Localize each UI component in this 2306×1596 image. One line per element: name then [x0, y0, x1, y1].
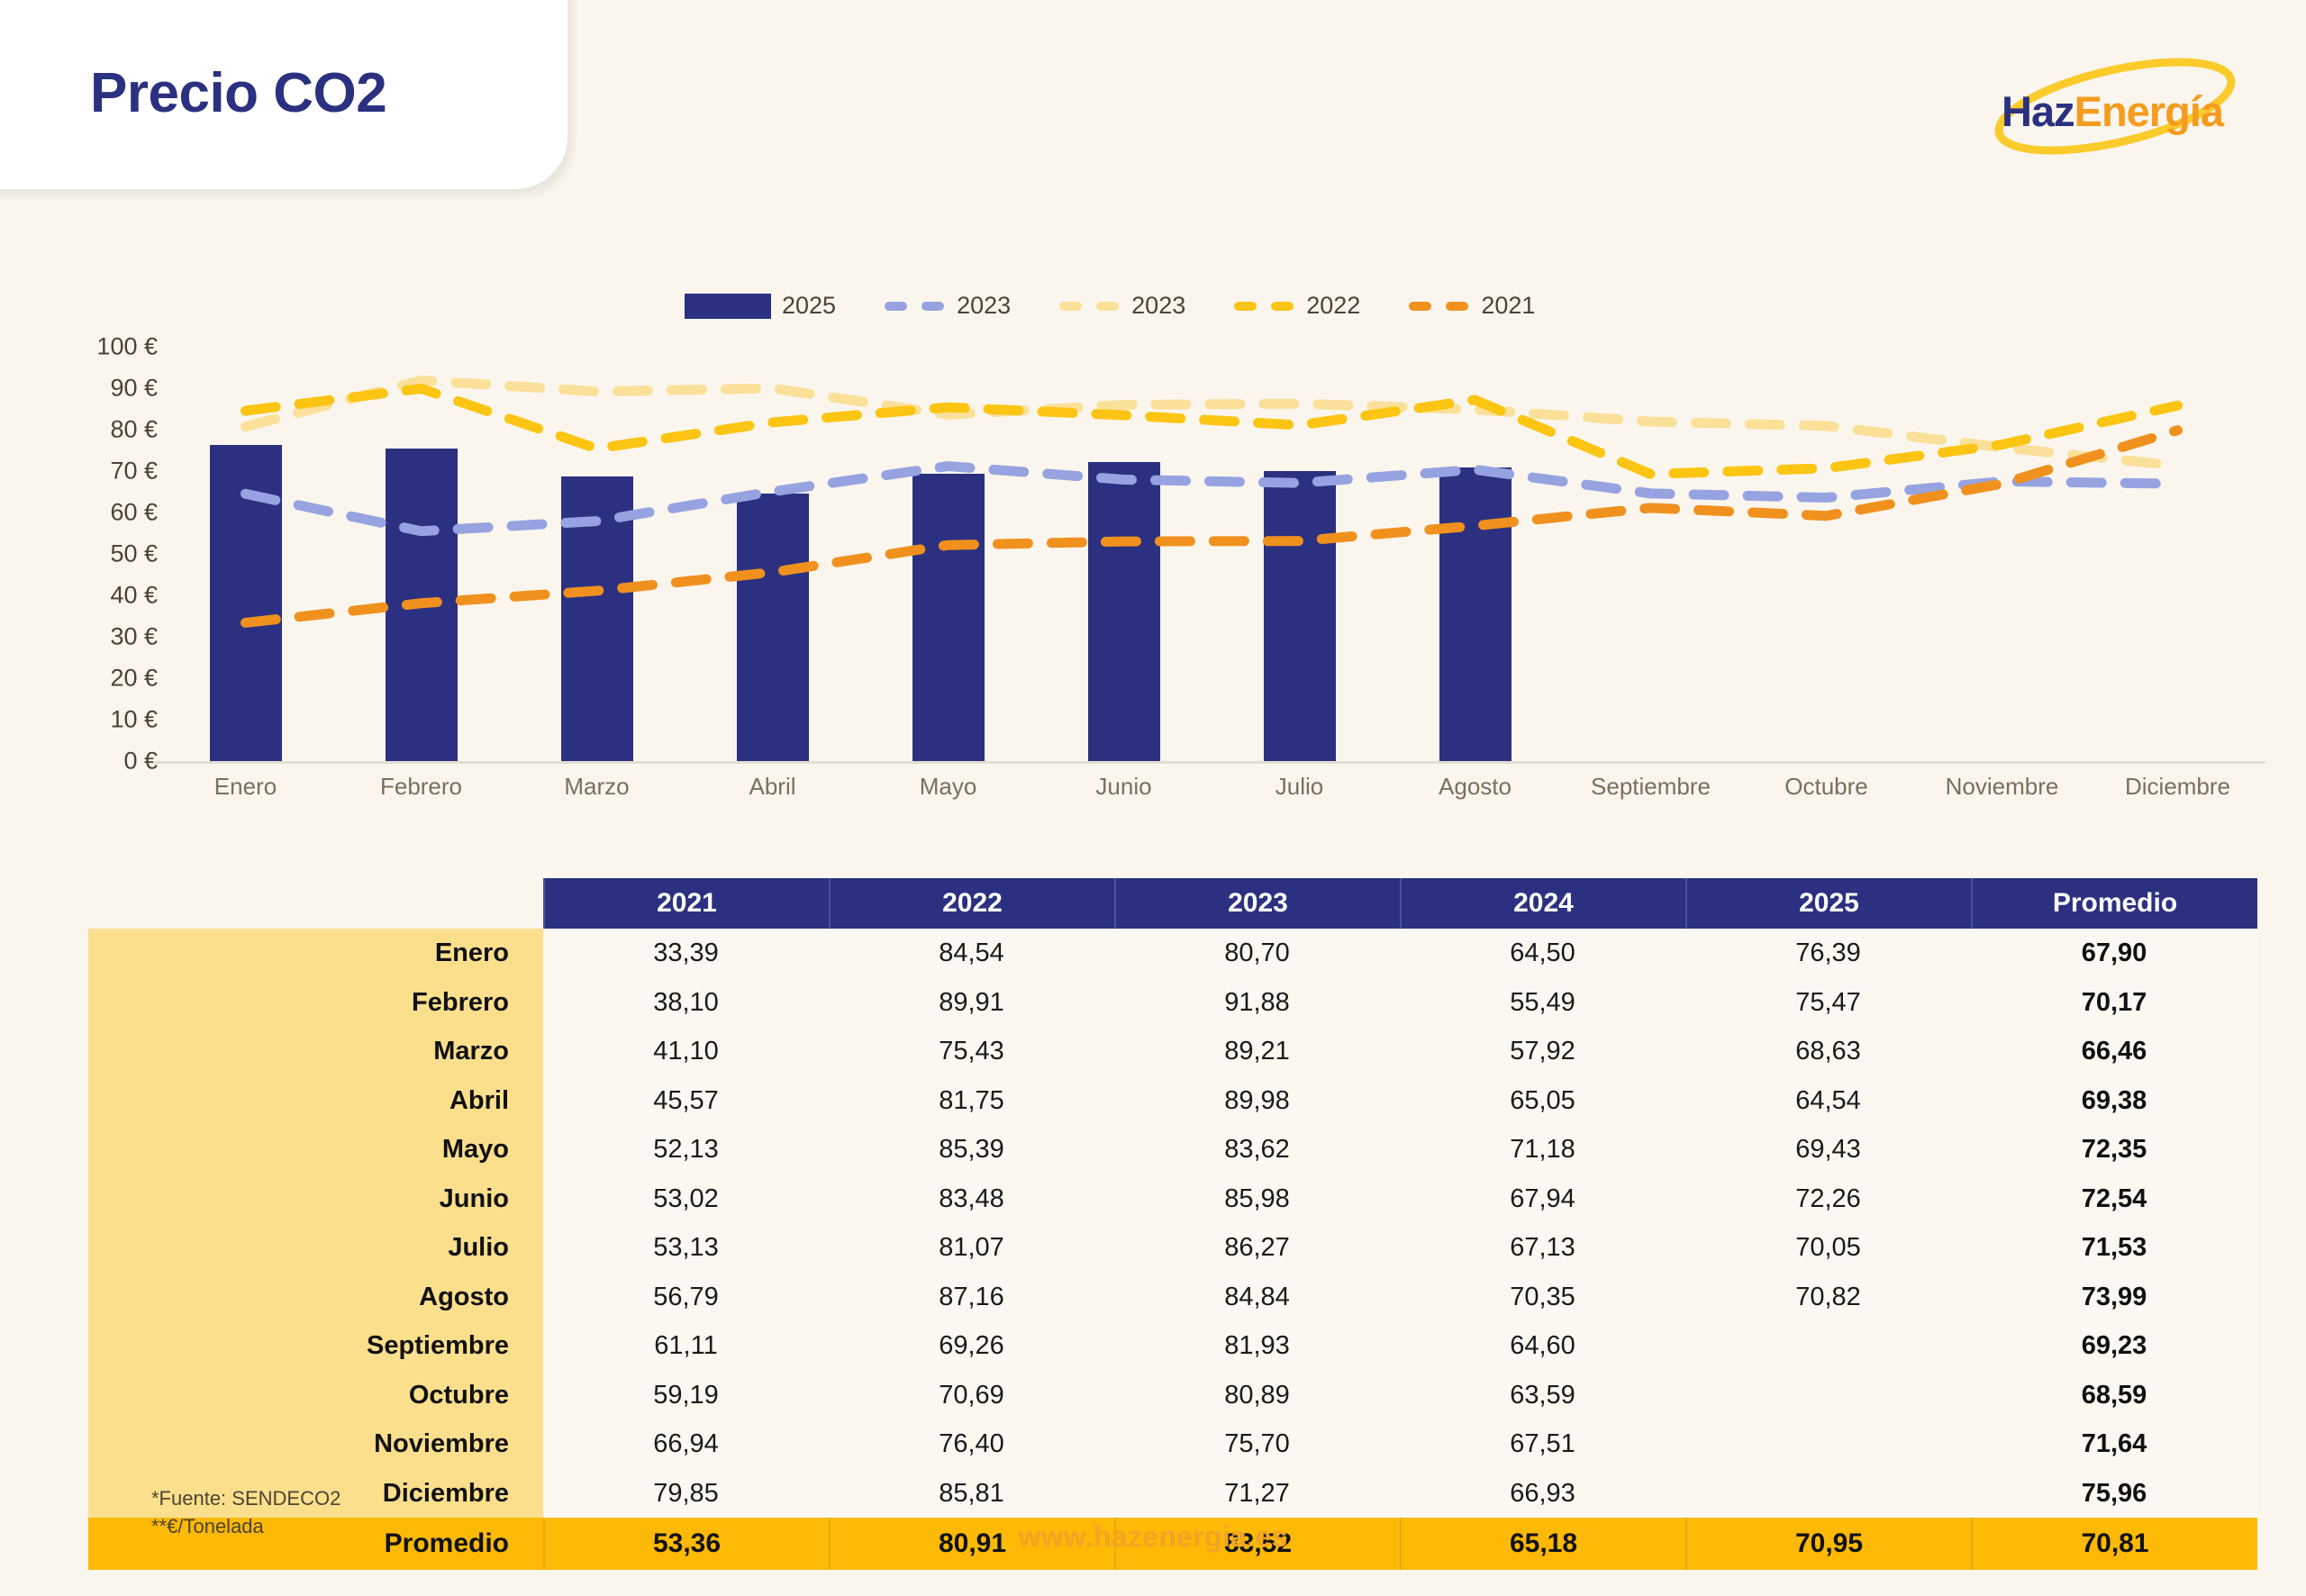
table-corner-cell — [88, 878, 543, 929]
table-header-row: 20212022202320242025Promedio — [88, 878, 2259, 929]
table-cell-value: 53,02 — [543, 1174, 829, 1224]
table-cell-value: 80,89 — [1114, 1371, 1400, 1420]
x-tick-label: Mayo — [920, 773, 977, 801]
data-table: 20212022202320242025Promedio Enero33,398… — [88, 878, 2259, 1570]
chart-plot: 100 €90 €80 €70 €60 €50 €40 €30 €20 €10 … — [0, 270, 2306, 829]
table-header: 20212022202320242025Promedio — [88, 878, 2259, 929]
row-month-label: Octubre — [88, 1371, 543, 1420]
table-cell-value: 67,13 — [1400, 1223, 1685, 1273]
chart: 20252023202320222021 100 €90 €80 €70 €60… — [0, 270, 2306, 829]
website-link[interactable]: www.hazenergia.es — [0, 1520, 2306, 1554]
x-tick-label: Noviembre — [1946, 773, 2059, 801]
row-month-label: Noviembre — [88, 1419, 543, 1469]
x-tick-label: Diciembre — [2125, 773, 2230, 801]
logo-energia: Energía — [2074, 87, 2223, 135]
table-cell-value: 57,92 — [1400, 1027, 1685, 1076]
row-month-label: Agosto — [88, 1273, 543, 1322]
x-tick-label: Febrero — [380, 773, 462, 801]
table-row: Noviembre66,9476,4075,7067,5171,64 — [88, 1419, 2259, 1469]
table-cell-value: 68,63 — [1685, 1027, 1971, 1076]
table-cell-value: 75,43 — [829, 1027, 1114, 1076]
table-cell-average: 68,59 — [1971, 1371, 2257, 1420]
table-cell-average: 71,64 — [1971, 1419, 2257, 1469]
table-cell-value: 76,39 — [1685, 929, 1971, 978]
x-tick-label: Agosto — [1439, 773, 1512, 801]
title-card: Precio CO2 — [0, 0, 567, 189]
x-tick-label: Marzo — [564, 773, 629, 801]
table-cell-value: 85,81 — [829, 1469, 1114, 1519]
table-cell-value: 83,62 — [1114, 1125, 1400, 1174]
table-cell-value: 89,98 — [1114, 1076, 1400, 1126]
row-month-label: Junio — [88, 1174, 543, 1224]
table-body: Enero33,3984,5480,7064,5076,3967,90Febre… — [88, 929, 2259, 1518]
table-cell-value: 89,21 — [1114, 1027, 1400, 1076]
x-tick-label: Abril — [749, 773, 795, 801]
line-series-group — [0, 270, 2306, 829]
table-cell-value: 76,40 — [829, 1419, 1114, 1469]
table-cell-value: 89,91 — [829, 978, 1114, 1028]
x-tick-label: Julio — [1276, 773, 1323, 801]
table-cell-value: 70,82 — [1685, 1273, 1971, 1322]
table-cell-value: 71,27 — [1114, 1469, 1400, 1519]
table-cell-value: 86,27 — [1114, 1223, 1400, 1273]
table-cell-value: 70,35 — [1400, 1273, 1685, 1322]
column-header-promedio: Promedio — [1971, 878, 2257, 929]
table-cell-value: 64,60 — [1400, 1321, 1685, 1371]
table-cell-value: 71,18 — [1400, 1125, 1685, 1174]
x-tick-label: Septiembre — [1591, 773, 1711, 801]
table-cell-value: 67,51 — [1400, 1419, 1685, 1469]
table-row: Junio53,0283,4885,9867,9472,2672,54 — [88, 1174, 2259, 1224]
table-cell-value: 79,85 — [543, 1469, 829, 1519]
x-axis-labels: EneroFebreroMarzoAbrilMayoJunioJulioAgos… — [158, 773, 2265, 809]
x-tick-label: Octubre — [1784, 773, 1868, 801]
table-cell-value: 81,93 — [1114, 1321, 1400, 1371]
table-cell-value: 85,98 — [1114, 1174, 1400, 1224]
row-month-label: Febrero — [88, 978, 543, 1028]
table-row: Enero33,3984,5480,7064,5076,3967,90 — [88, 929, 2259, 978]
table-cell-value: 61,11 — [543, 1321, 829, 1371]
table-cell-value: 41,10 — [543, 1027, 829, 1076]
table-cell-average: 72,54 — [1971, 1174, 2257, 1224]
table-row: Octubre59,1970,6980,8963,5968,59 — [88, 1371, 2259, 1420]
table-row: Abril45,5781,7589,9865,0564,5469,38 — [88, 1076, 2259, 1126]
row-month-label: Julio — [88, 1223, 543, 1273]
row-month-label: Enero — [88, 929, 543, 978]
table-cell-value: 45,57 — [543, 1076, 829, 1126]
logo-text: HazEnergía — [2002, 86, 2223, 136]
brand-logo: HazEnergía — [1980, 52, 2250, 160]
table-cell-value: 83,48 — [829, 1174, 1114, 1224]
page-title: Precio CO2 — [90, 61, 386, 125]
table-row: Diciembre79,8585,8171,2766,9375,96 — [88, 1469, 2259, 1519]
table-row: Septiembre61,1169,2681,9364,6069,23 — [88, 1321, 2259, 1371]
table-cell-average: 70,17 — [1971, 978, 2257, 1028]
column-header-2023: 2023 — [1114, 878, 1400, 929]
column-header-2021: 2021 — [543, 878, 829, 929]
table-cell-value: 56,79 — [543, 1273, 829, 1322]
x-tick-label: Enero — [214, 773, 277, 801]
row-month-label: Abril — [88, 1076, 543, 1126]
table-cell-value: 85,39 — [829, 1125, 1114, 1174]
table-cell-average: 72,35 — [1971, 1125, 2257, 1174]
column-header-2024: 2024 — [1400, 878, 1685, 929]
table-cell-value: 65,05 — [1400, 1076, 1685, 1126]
table-cell-value: 33,39 — [543, 929, 829, 978]
table-cell-value: 55,49 — [1400, 978, 1685, 1028]
table-cell-value: 69,26 — [829, 1321, 1114, 1371]
table-cell-value: 84,54 — [829, 929, 1114, 978]
table-cell-value — [1685, 1321, 1971, 1371]
slide-root: HazEnergía Precio CO2 HazEnergía 2025202… — [0, 0, 2306, 1596]
table-cell-average: 71,53 — [1971, 1223, 2257, 1273]
table-cell-value: 52,13 — [543, 1125, 829, 1174]
note-source: *Fuente: SENDECO2 — [151, 1484, 340, 1512]
table-cell-value: 75,70 — [1114, 1419, 1400, 1469]
table-cell-value: 63,59 — [1400, 1371, 1685, 1420]
x-tick-label: Junio — [1095, 773, 1151, 801]
table-cell-value: 64,54 — [1685, 1076, 1971, 1126]
table-cell-value: 81,07 — [829, 1223, 1114, 1273]
table-cell-value: 38,10 — [543, 978, 829, 1028]
table-cell-value: 66,93 — [1400, 1469, 1685, 1519]
row-month-label: Septiembre — [88, 1321, 543, 1371]
column-header-2022: 2022 — [829, 878, 1114, 929]
table-cell-value: 84,84 — [1114, 1273, 1400, 1322]
table-cell-value: 67,94 — [1400, 1174, 1685, 1224]
table-cell-value: 66,94 — [543, 1419, 829, 1469]
table-cell-average: 75,96 — [1971, 1469, 2257, 1519]
table-cell-average: 67,90 — [1971, 929, 2257, 978]
table-cell-value: 53,13 — [543, 1223, 829, 1273]
table-cell-value — [1685, 1419, 1971, 1469]
logo-haz: Haz — [2002, 87, 2074, 135]
table-row: Febrero38,1089,9191,8855,4975,4770,17 — [88, 978, 2259, 1028]
table-row: Mayo52,1385,3983,6271,1869,4372,35 — [88, 1125, 2259, 1174]
table-cell-average: 69,23 — [1971, 1321, 2257, 1371]
table-cell-value: 81,75 — [829, 1076, 1114, 1126]
table-cell-value: 70,05 — [1685, 1223, 1971, 1273]
table-cell-value: 75,47 — [1685, 978, 1971, 1028]
table-cell-average: 66,46 — [1971, 1027, 2257, 1076]
table-cell-value: 91,88 — [1114, 978, 1400, 1028]
table-row: Julio53,1381,0786,2767,1370,0571,53 — [88, 1223, 2259, 1273]
table-cell-value: 87,16 — [829, 1273, 1114, 1322]
table-cell-average: 73,99 — [1971, 1273, 2257, 1322]
table-cell-average: 69,38 — [1971, 1076, 2257, 1126]
table-cell-value: 70,69 — [829, 1371, 1114, 1420]
table-cell-value: 59,19 — [543, 1371, 829, 1420]
table-cell-value: 64,50 — [1400, 929, 1685, 978]
row-month-label: Marzo — [88, 1027, 543, 1076]
row-month-label: Mayo — [88, 1125, 543, 1174]
chart-line-2024 — [246, 467, 2178, 531]
table-row: Agosto56,7987,1684,8470,3570,8273,99 — [88, 1273, 2259, 1322]
table-cell-value — [1685, 1469, 1971, 1519]
table-cell-value — [1685, 1371, 1971, 1420]
table-cell-value: 69,43 — [1685, 1125, 1971, 1174]
column-header-2025: 2025 — [1685, 878, 1971, 929]
table-cell-value: 72,26 — [1685, 1174, 1971, 1224]
table-cell-value: 80,70 — [1114, 929, 1400, 978]
table-row: Marzo41,1075,4389,2157,9268,6366,46 — [88, 1027, 2259, 1076]
